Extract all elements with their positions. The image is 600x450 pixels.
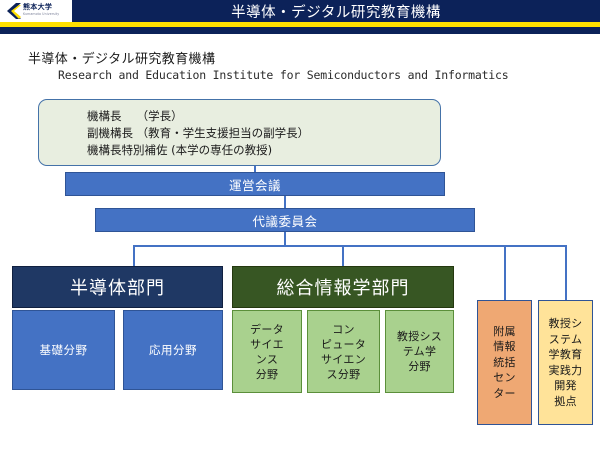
- field-data-science-label: データサイエンス分野: [250, 322, 284, 382]
- page-title: 半導体・デジタル研究教育機構: [72, 0, 600, 22]
- council-unei[interactable]: 運営会議: [65, 172, 445, 196]
- leadership-line-3: 機構長特別補佐 (本学の専任の教授): [87, 142, 309, 159]
- department-informatics-header[interactable]: 総合情報学部門: [232, 266, 454, 308]
- center-information-integration-label: 附属情報統括センター: [493, 324, 516, 402]
- field-computer-science-label: コンピュータサイエンス分野: [321, 322, 366, 382]
- field-oyo[interactable]: 応用分野: [123, 310, 223, 390]
- leadership-lines: 機構長 （学長） 副機構長 （教育・学生支援担当の副学長） 機構長特別補佐 (本…: [87, 108, 309, 159]
- center-information-integration[interactable]: 附属情報統括センター: [477, 300, 532, 425]
- council-daigi[interactable]: 代議委員会: [95, 208, 475, 232]
- connector-bus-to-semiconductor-dept: [133, 245, 135, 266]
- field-data-science[interactable]: データサイエンス分野: [232, 310, 302, 393]
- field-computer-science[interactable]: コンピュータサイエンス分野: [307, 310, 380, 393]
- connector-unei-to-daigi: [284, 196, 286, 208]
- center-instructional-systems-practice-label: 教授システム学教育実践力開発拠点: [549, 316, 583, 409]
- field-instructional-systems-label: 教授システム学分野: [397, 329, 442, 374]
- department-semiconductor-header[interactable]: 半導体部門: [12, 266, 223, 308]
- logo-text: 熊本大学 Kumamoto University: [23, 4, 59, 16]
- chevron-logo-mark-icon: [5, 3, 21, 19]
- slide-root: 熊本大学 Kumamoto University 半導体・デジタル研究教育機構 …: [0, 0, 600, 450]
- header-band-lower: [0, 27, 600, 34]
- institute-name-en: Research and Education Institute for Sem…: [58, 68, 508, 82]
- connector-daigi-drop: [284, 232, 286, 245]
- connector-bus-to-informatics-dept: [342, 245, 344, 266]
- leadership-line-2: 副機構長 （教育・学生支援担当の副学長）: [87, 125, 309, 142]
- field-instructional-systems[interactable]: 教授システム学分野: [385, 310, 454, 393]
- institute-name-jp: 半導体・デジタル研究教育機構: [28, 48, 215, 67]
- logo-name-jp: 熊本大学: [23, 4, 59, 11]
- university-logo: 熊本大学 Kumamoto University: [0, 0, 72, 22]
- connector-bus-to-center-joho: [504, 245, 506, 300]
- center-instructional-systems-practice[interactable]: 教授システム学教育実践力開発拠点: [538, 300, 593, 425]
- connector-bus-to-center-kyoju: [565, 245, 567, 300]
- leadership-box: 機構長 （学長） 副機構長 （教育・学生支援担当の副学長） 機構長特別補佐 (本…: [38, 99, 441, 166]
- leadership-line-1: 機構長 （学長）: [87, 108, 309, 125]
- connector-horizontal-bus: [133, 245, 567, 247]
- field-kiso[interactable]: 基礎分野: [12, 310, 115, 390]
- logo-name-en: Kumamoto University: [23, 13, 59, 16]
